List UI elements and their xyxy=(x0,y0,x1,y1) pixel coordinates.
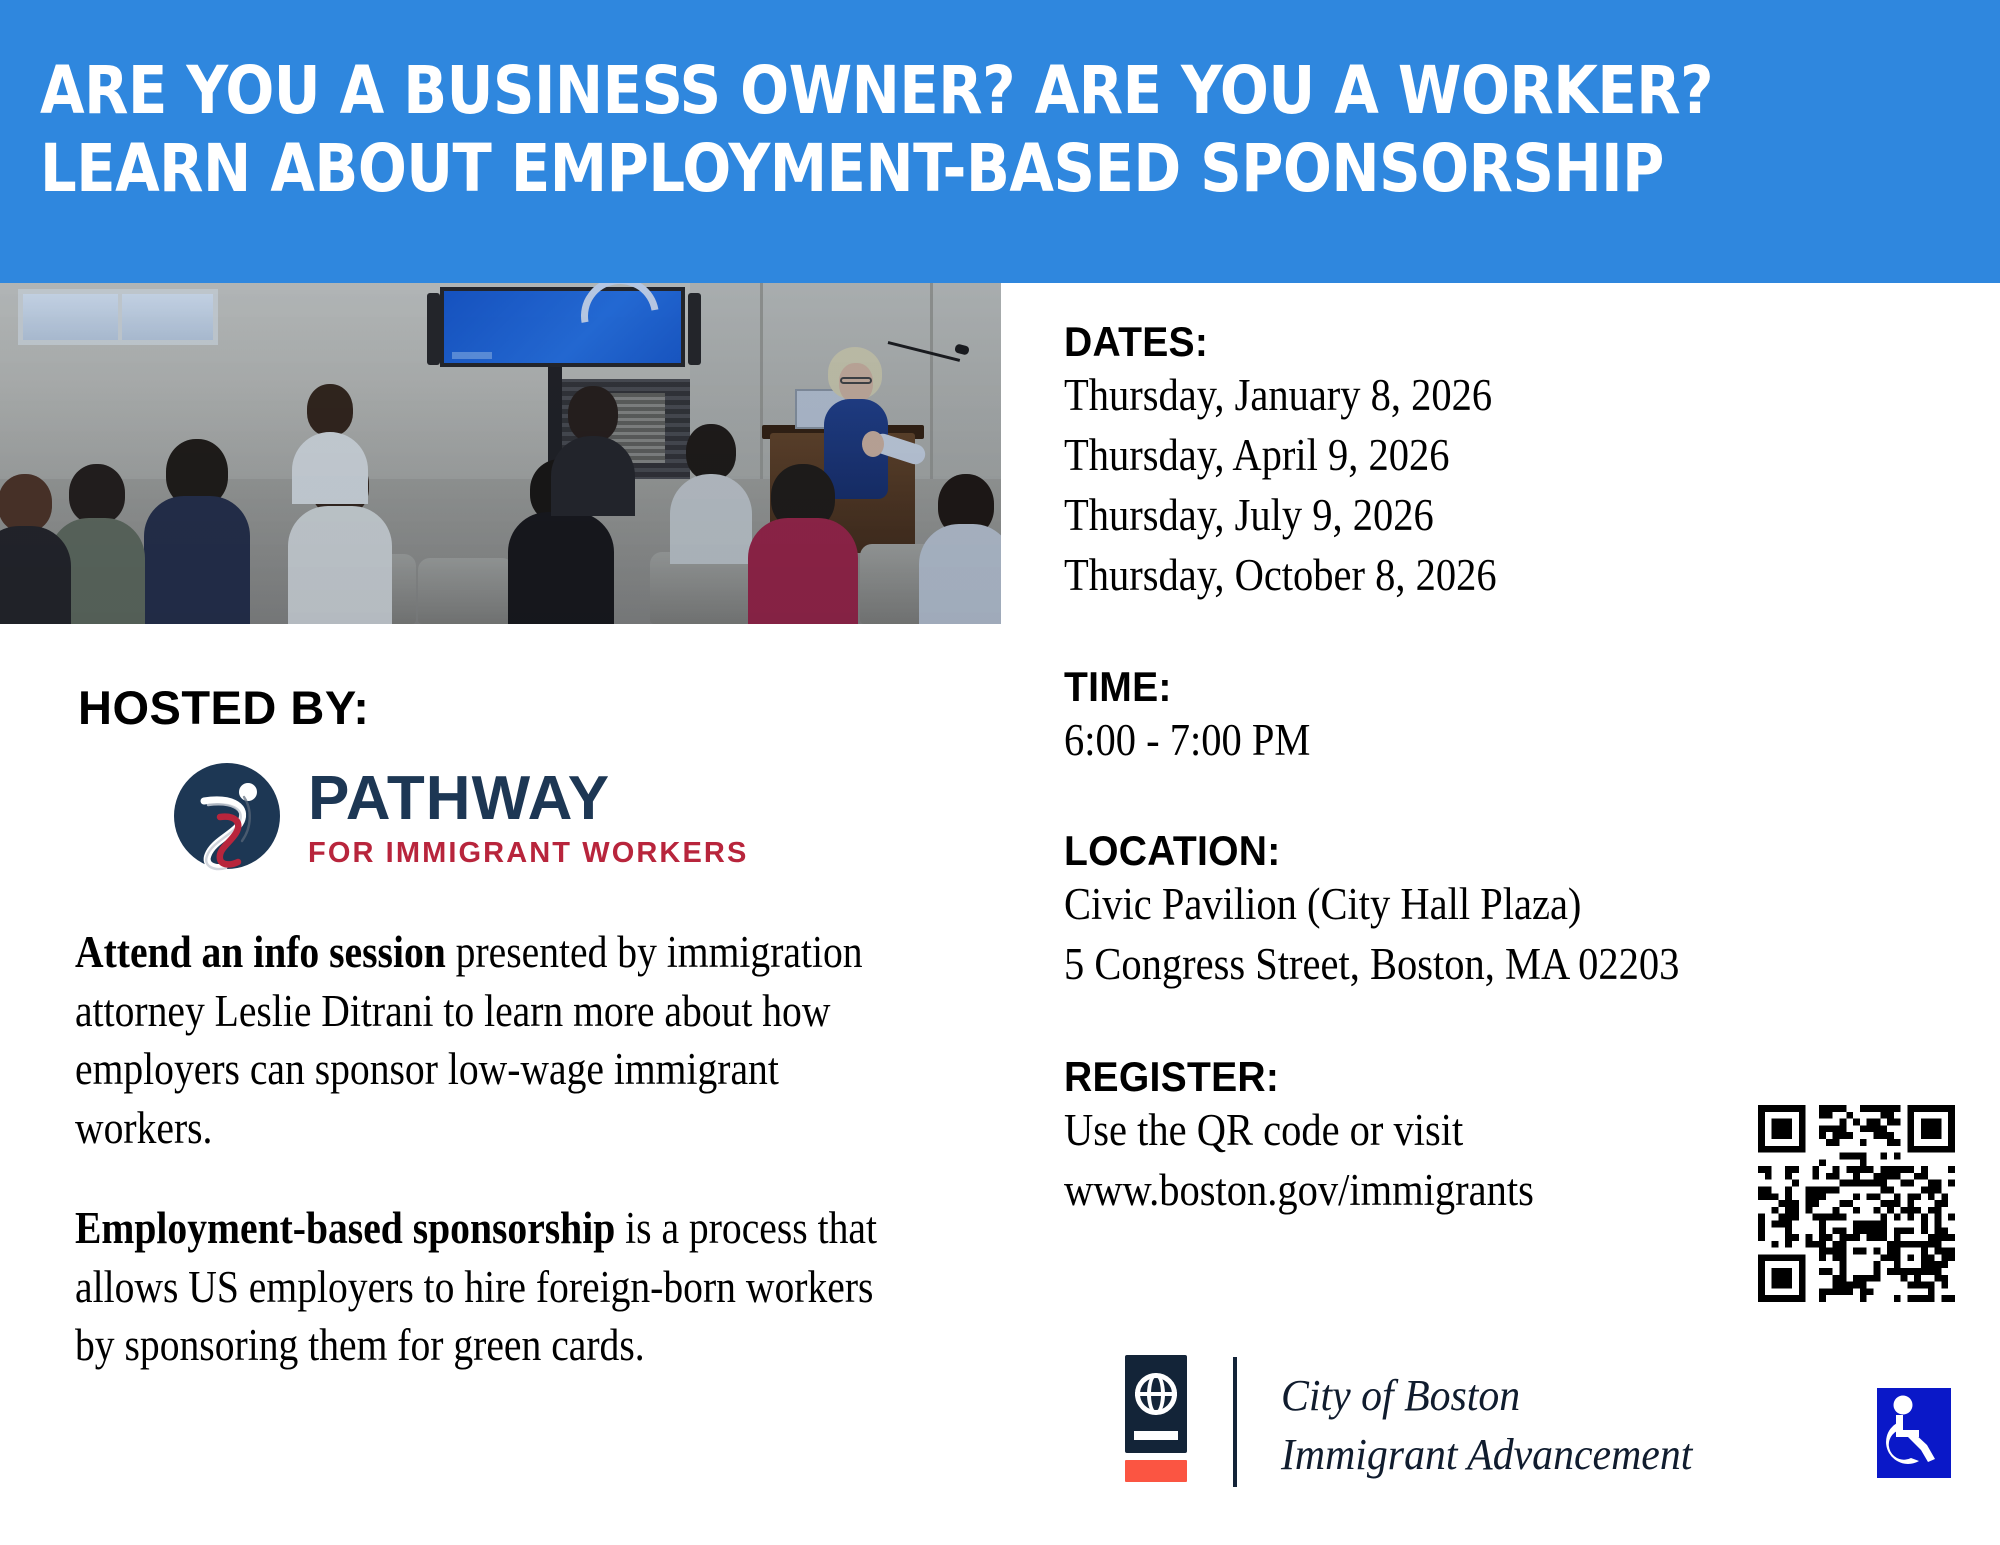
qr-code-canvas[interactable] xyxy=(1758,1105,1955,1302)
value-line: Civic Pavilion (City Hall Plaza) xyxy=(1064,875,1906,935)
left-column: HOSTED BY: PATHWAY FOR IMMIGRANT WORKERS… xyxy=(0,624,1000,1375)
time-block: TIME: 6:00 - 7:00 PM xyxy=(1064,663,2000,771)
value-line: 5 Congress Street, Boston, MA 02203 xyxy=(1064,935,1906,995)
event-photo xyxy=(0,283,1001,624)
paragraph-1-bold-lead: Attend an info session xyxy=(75,927,446,977)
location-values: Civic Pavilion (City Hall Plaza)5 Congre… xyxy=(1064,875,1906,995)
header-banner: ARE YOU A BUSINESS OWNER? ARE YOU A WORK… xyxy=(0,0,2000,283)
location-block: LOCATION: Civic Pavilion (City Hall Plaz… xyxy=(1064,827,2000,995)
pathway-wordmark: PATHWAY FOR IMMIGRANT WORKERS xyxy=(308,764,748,868)
time-values: 6:00 - 7:00 PM xyxy=(1064,711,1906,771)
pathway-logo-name: PATHWAY xyxy=(308,768,748,830)
paragraph-2-bold-lead: Employment-based sponsorship xyxy=(75,1203,615,1253)
pathway-logo: PATHWAY FOR IMMIGRANT WORKERS xyxy=(168,757,1000,875)
city-of-boston-logo: City of Boston Immigrant Advancement xyxy=(1125,1355,1714,1487)
value-line: Thursday, October 8, 2026 xyxy=(1064,546,1906,606)
photo-color-tint xyxy=(0,283,1001,624)
paragraph-sponsorship: Employment-based sponsorship is a proces… xyxy=(75,1199,885,1375)
dates-label: DATES: xyxy=(1064,318,1934,366)
pathway-logo-mark-icon xyxy=(168,757,286,875)
registration-qr-code[interactable] xyxy=(1758,1105,1955,1302)
headline-line-1: ARE YOU A BUSINESS OWNER? ARE YOU A WORK… xyxy=(40,52,1906,130)
time-label: TIME: xyxy=(1064,663,1934,711)
value-line: Thursday, January 8, 2026 xyxy=(1064,366,1906,426)
right-column: DATES: Thursday, January 8, 2026Thursday… xyxy=(1064,318,2000,1221)
dates-values: Thursday, January 8, 2026Thursday, April… xyxy=(1064,366,1906,605)
wheelchair-accessibility-icon xyxy=(1877,1388,1951,1478)
location-label: LOCATION: xyxy=(1064,827,1934,875)
globe-icon xyxy=(1135,1373,1177,1415)
passport-globe-icon xyxy=(1125,1355,1187,1482)
value-line: 6:00 - 7:00 PM xyxy=(1064,711,1906,771)
logo-text-line-2: Immigrant Advancement xyxy=(1281,1426,1692,1485)
headline-line-2: LEARN ABOUT EMPLOYMENT-BASED SPONSORSHIP xyxy=(40,130,1906,208)
pathway-logo-tagline: FOR IMMIGRANT WORKERS xyxy=(308,839,748,868)
passport-cover xyxy=(1125,1355,1187,1453)
value-line: Thursday, April 9, 2026 xyxy=(1064,426,1906,486)
logo-divider xyxy=(1233,1357,1237,1487)
logo-red-bar xyxy=(1125,1460,1187,1482)
value-line: Thursday, July 9, 2026 xyxy=(1064,486,1906,546)
passport-strip xyxy=(1134,1431,1178,1440)
register-label: REGISTER: xyxy=(1064,1053,1934,1101)
paragraph-info-session: Attend an info session presented by immi… xyxy=(75,923,885,1157)
dates-block: DATES: Thursday, January 8, 2026Thursday… xyxy=(1064,318,2000,605)
logo-text-line-1: City of Boston xyxy=(1281,1367,1692,1426)
city-of-boston-logo-text: City of Boston Immigrant Advancement xyxy=(1281,1355,1692,1485)
hosted-by-label: HOSTED BY: xyxy=(78,680,1000,735)
